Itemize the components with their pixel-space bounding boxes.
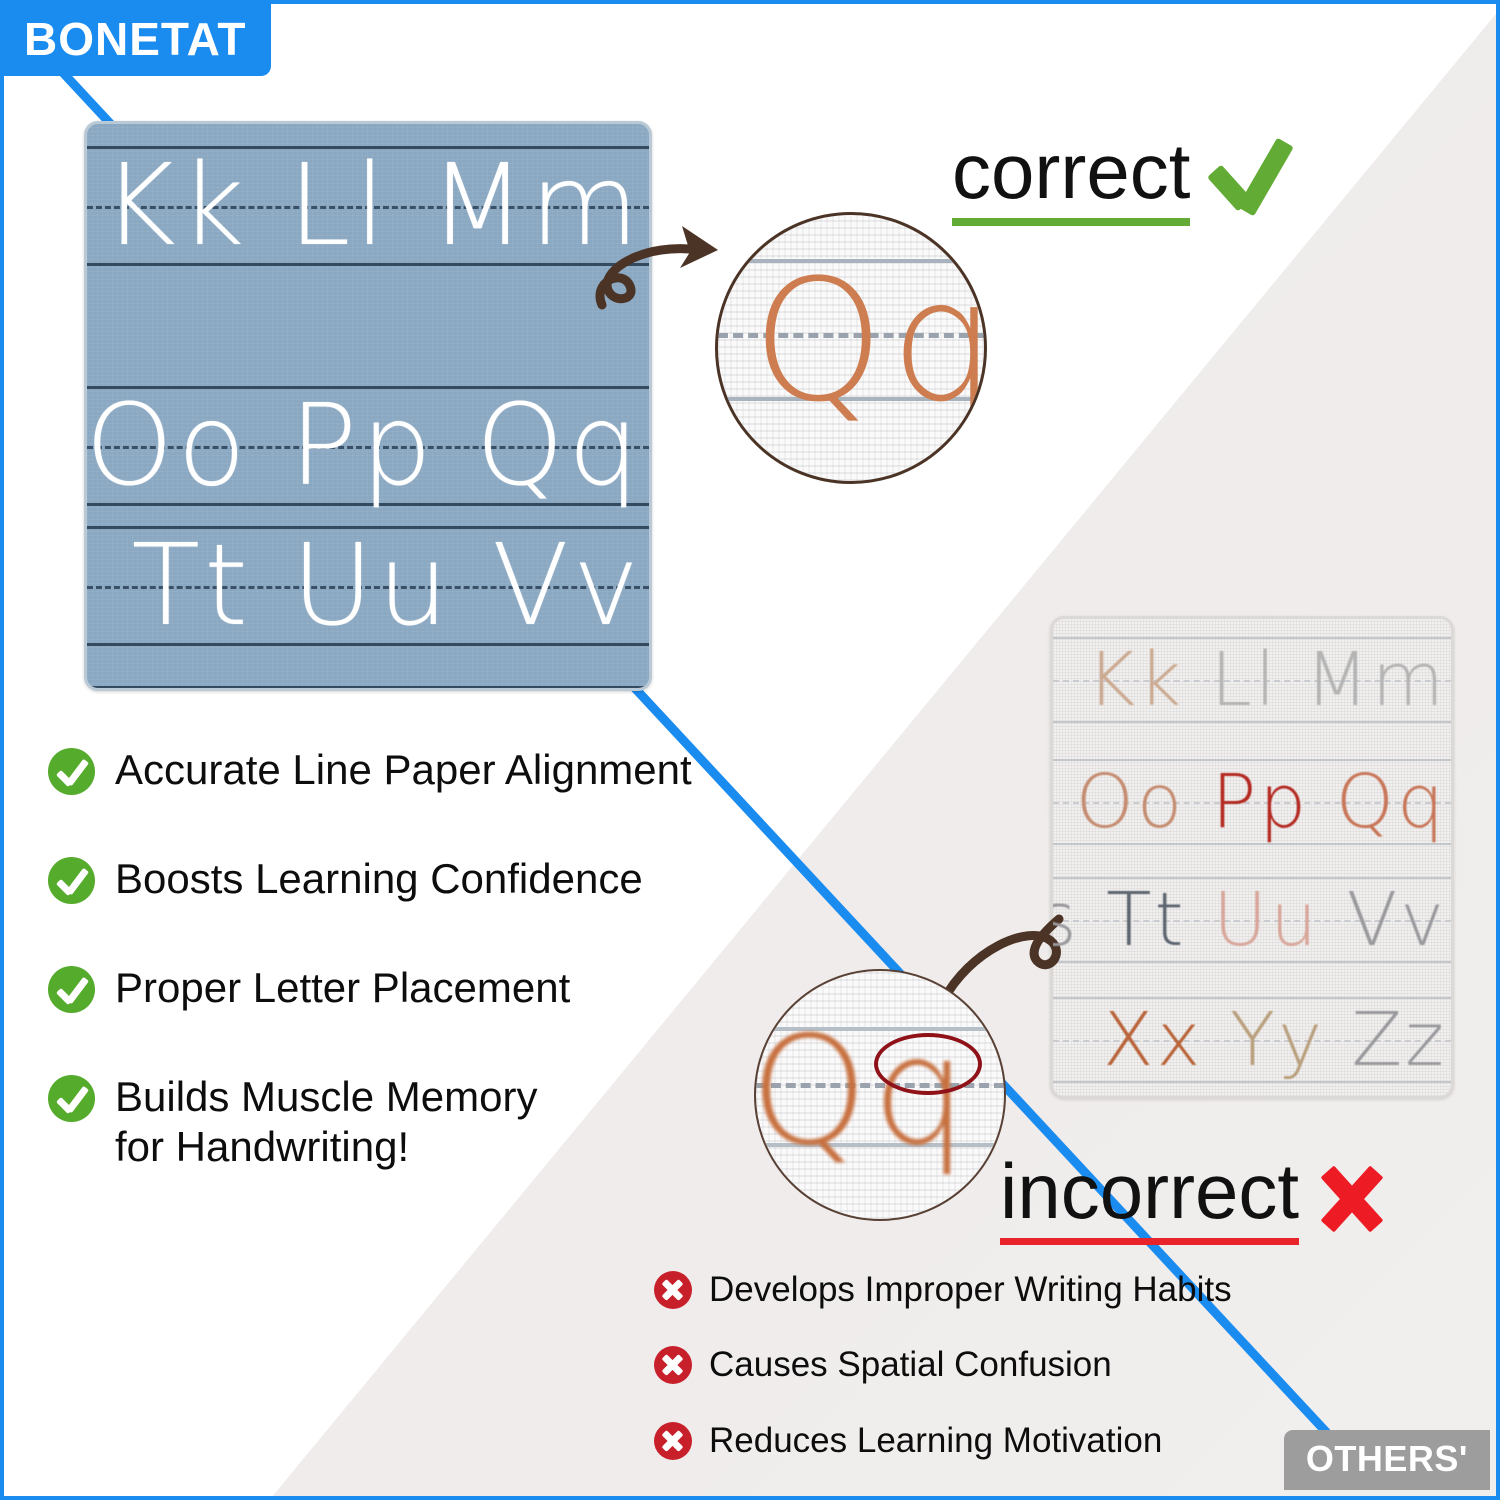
benefit-label: Boosts Learning Confidence — [115, 853, 643, 904]
table-row: Jj Kk Ll Mm — [87, 146, 649, 266]
others-badge: OTHERS' — [1284, 1430, 1490, 1490]
row-letters: s Tt Uu Vv — [1050, 883, 1451, 957]
list-item: Boosts Learning Confidence — [48, 853, 708, 904]
table-row: Xx Yy Zz — [1053, 997, 1451, 1083]
drawbacks-list: Develops Improper Writing Habits Causes … — [654, 1270, 1274, 1496]
table-row: Xx Yy Zz — [87, 686, 649, 691]
list-item: Proper Letter Placement — [48, 962, 708, 1013]
table-row: Oo Pp Qq — [87, 386, 649, 506]
list-item: Builds Muscle Memory for Handwriting! — [48, 1071, 708, 1171]
magnified-letters: Qq — [752, 257, 987, 425]
list-item: Accurate Line Paper Alignment — [48, 744, 708, 795]
writing-rows: Jj Kk Ll Mm Oo Pp Qq Ss Tt Uu Vv — [87, 124, 649, 688]
row-letters: Xx Yy Zz — [127, 690, 649, 691]
list-item: Causes Spatial Confusion — [654, 1345, 1274, 1385]
promo-frame: BONETAT Jj Kk Ll Mm Oo Pp Qq — [0, 0, 1500, 1500]
verdict-correct: correct — [952, 132, 1292, 226]
row-letters: Kk Ll Mm — [1087, 643, 1451, 717]
table-row: s Tt Uu Vv — [1053, 877, 1451, 963]
cross-circle-icon — [654, 1346, 692, 1384]
benefit-label: Builds Muscle Memory for Handwriting! — [115, 1071, 565, 1171]
cross-circle-icon — [654, 1422, 692, 1460]
magnified-incorrect-letters: Qq — [754, 969, 1006, 1221]
benefit-label: Accurate Line Paper Alignment — [115, 744, 692, 795]
benefit-label: Proper Letter Placement — [115, 962, 570, 1013]
error-highlight-ellipse — [874, 1033, 982, 1095]
list-item: Develops Improper Writing Habits — [654, 1270, 1274, 1310]
check-circle-icon — [48, 857, 95, 904]
brand-badge: BONETAT — [4, 4, 271, 76]
magnified-correct-letters: Qq — [715, 212, 987, 484]
writing-rows: Kk Ll Mm Oo Pp Qq s Tt Uu Vv — [1053, 619, 1451, 1096]
verdict-incorrect: incorrect — [1000, 1152, 1389, 1245]
check-circle-icon — [48, 966, 95, 1013]
row-letters: Oo Pp Qq — [85, 390, 649, 502]
table-row: Kk Ll Mm — [1053, 637, 1451, 723]
cross-mark-icon — [1315, 1164, 1389, 1234]
verdict-label: incorrect — [1000, 1152, 1299, 1245]
drawback-label: Develops Improper Writing Habits — [709, 1270, 1232, 1310]
list-item: Reduces Learning Motivation — [654, 1421, 1274, 1461]
row-letters: Xx Yy Zz — [1103, 1003, 1451, 1077]
table-row: Oo Pp Qq — [1053, 759, 1451, 845]
check-circle-icon — [48, 748, 95, 795]
alphabet-tracing-board-bonetat: Jj Kk Ll Mm Oo Pp Qq Ss Tt Uu Vv — [84, 121, 652, 691]
verdict-label: correct — [952, 132, 1190, 226]
check-mark-icon — [1206, 139, 1292, 219]
drawback-label: Causes Spatial Confusion — [709, 1345, 1112, 1385]
benefits-list: Accurate Line Paper Alignment Boosts Lea… — [48, 744, 708, 1229]
others-tracing-board: Kk Ll Mm Oo Pp Qq s Tt Uu Vv — [1050, 616, 1454, 1099]
check-circle-icon — [48, 1075, 95, 1122]
drawback-label: Reduces Learning Motivation — [709, 1421, 1162, 1461]
row-letters: Oo Pp Qq — [1076, 765, 1451, 839]
row-letters: Jj Kk Ll Mm — [84, 150, 649, 262]
row-letters: Ss Tt Uu Vv — [84, 530, 649, 642]
table-row: Ss Tt Uu Vv — [87, 526, 649, 646]
cross-circle-icon — [654, 1271, 692, 1309]
